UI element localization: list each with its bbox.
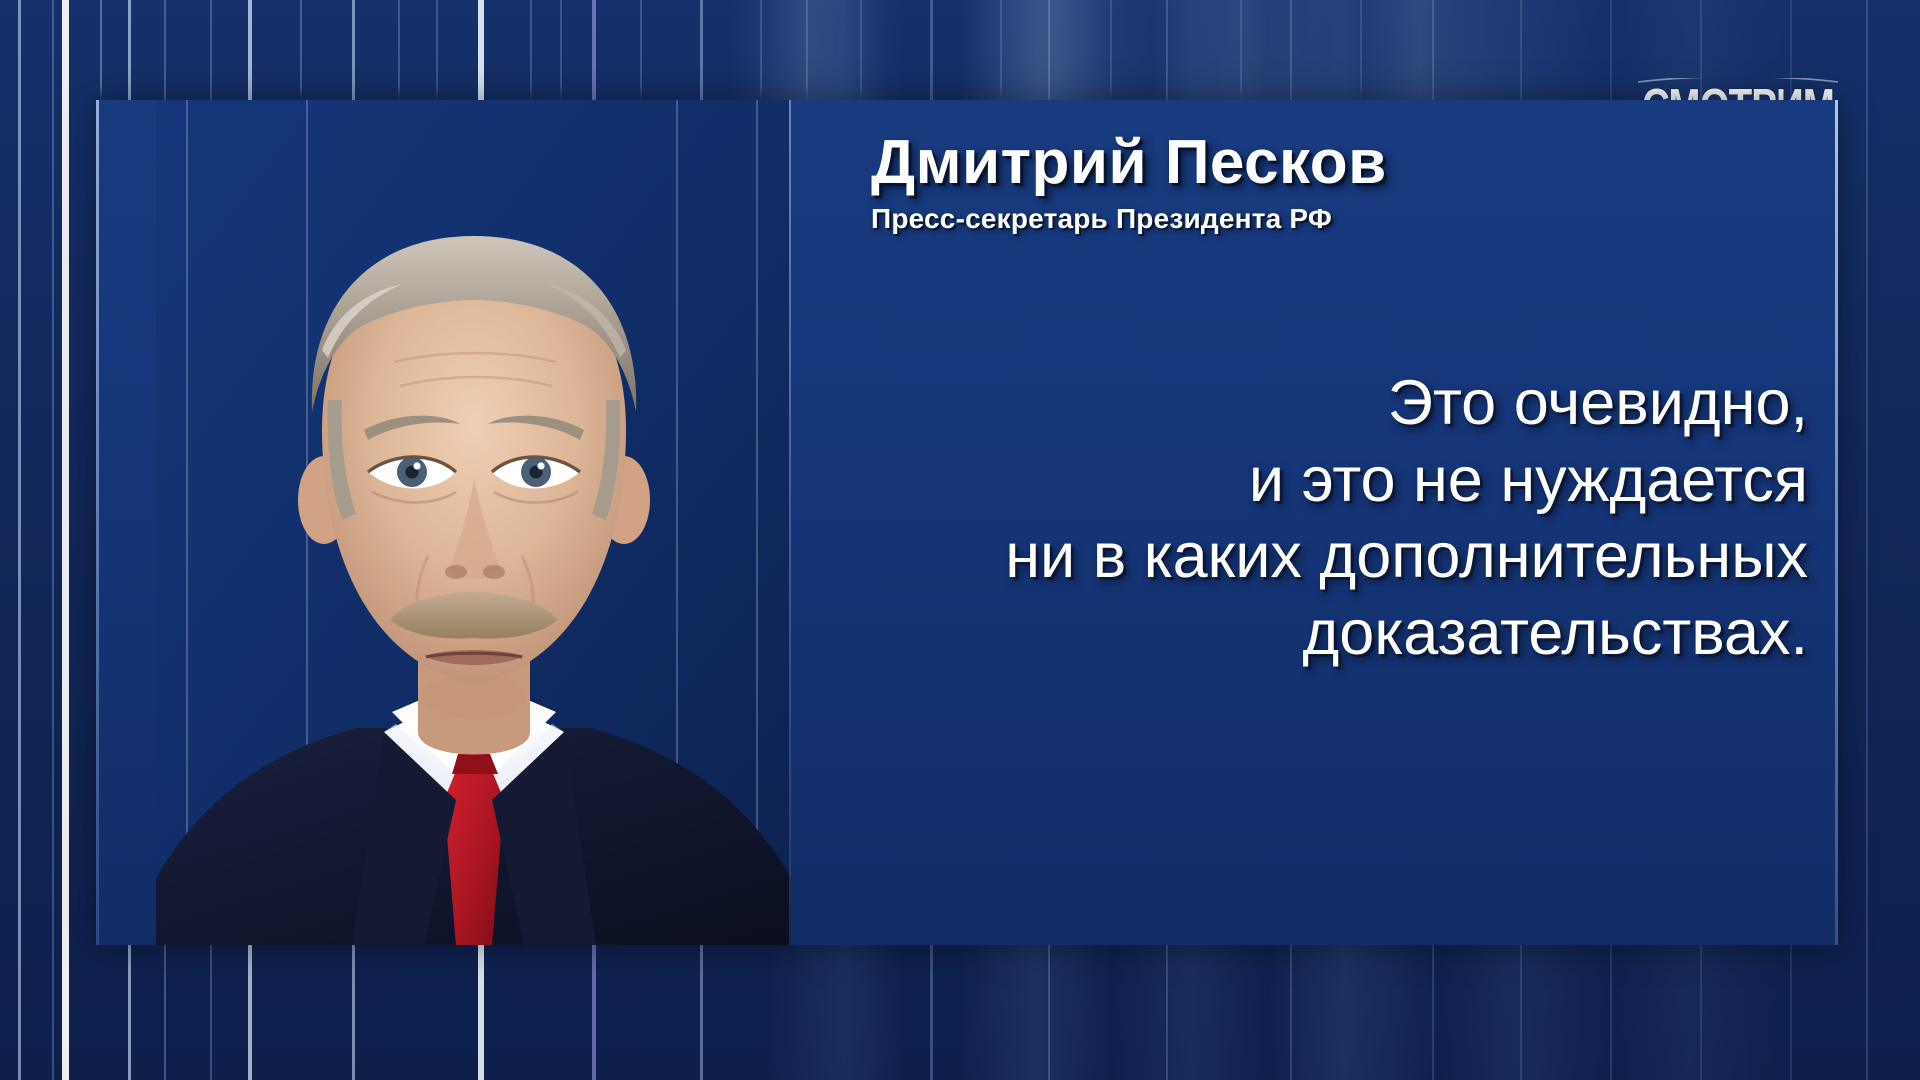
panel-left-edge [96,100,99,945]
quote-line: и это не нуждается [778,442,1808,519]
broadcast-lower-third-screen: СМОТРИМ ПО ТЕЛЕФОНУ [0,0,1920,1080]
quote-line: Это очевидно, [778,365,1808,442]
speaker-role: Пресс-секретарь Президента РФ [871,203,1387,235]
speaker-name-block: Дмитрий Песков Пресс-секретарь Президент… [871,130,1387,235]
quote-text: Это очевидно, и это не нуждается ни в ка… [778,365,1808,671]
lower-third-panel: Дмитрий Песков Пресс-секретарь Президент… [96,100,1838,945]
quote-line: доказательствах. [778,595,1808,672]
speaker-portrait [156,100,791,945]
quote-line: ни в каких дополнительных [778,518,1808,595]
panel-right-edge [1835,100,1838,945]
speaker-name: Дмитрий Песков [871,130,1387,195]
